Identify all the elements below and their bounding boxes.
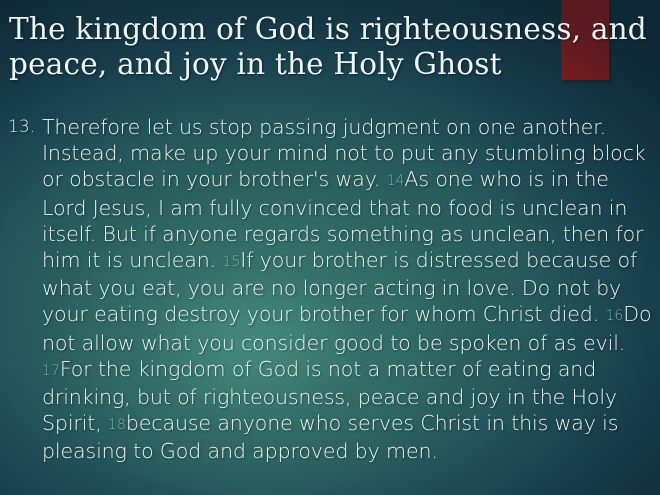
page-title: The kingdom of God is righteousness, and… <box>9 12 657 82</box>
verse-number: 15 <box>222 254 240 270</box>
passage-run: because anyone who serves Christ in this… <box>42 411 618 463</box>
slide-body-block: 13. Therefore let us stop passing judgme… <box>8 114 656 465</box>
verse-number: 17 <box>42 363 60 379</box>
slide-title-block: The kingdom of God is righteousness, and… <box>9 12 657 82</box>
verse-number: 14 <box>387 173 405 189</box>
presentation-slide: The kingdom of God is righteousness, and… <box>0 0 660 495</box>
list-item-number: 13. <box>8 114 42 140</box>
verse-number: 18 <box>108 417 126 433</box>
scripture-passage-text: Therefore let us stop passing judgment o… <box>42 114 656 465</box>
verse-number: 16 <box>605 308 623 324</box>
